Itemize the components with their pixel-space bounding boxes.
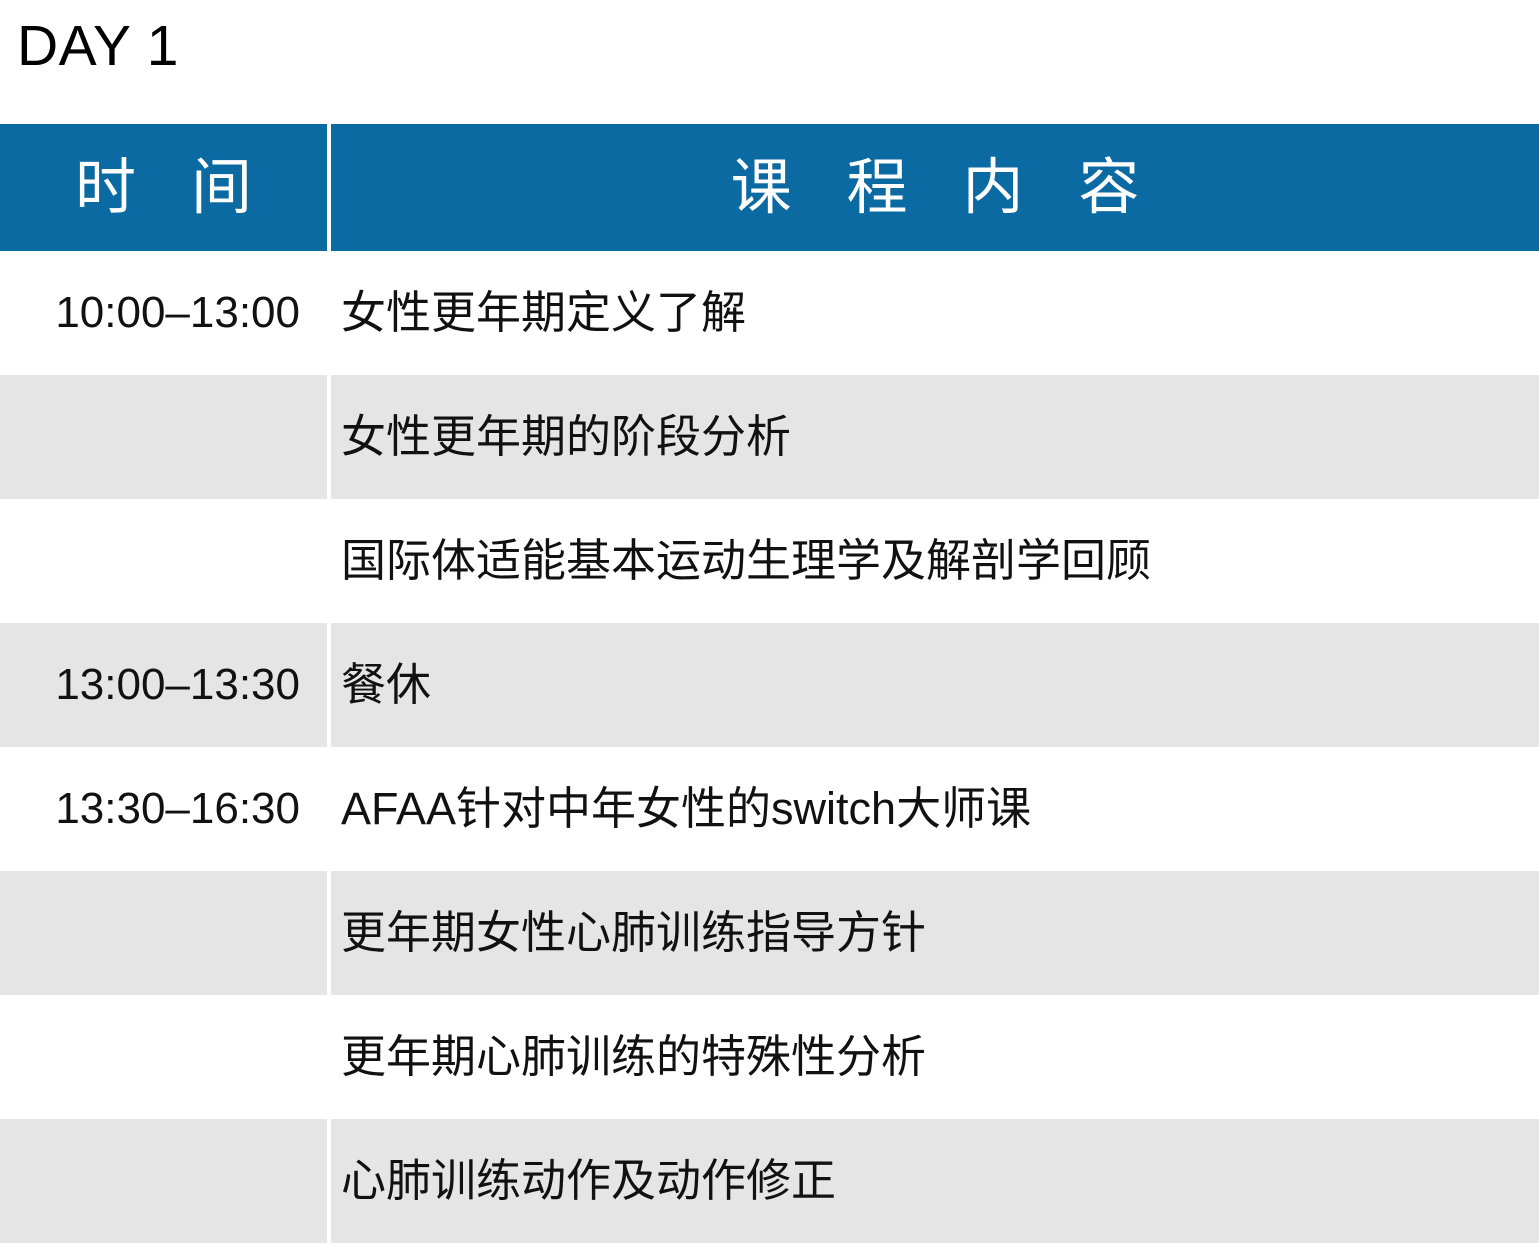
table-row: 13:30–16:30 AFAA针对中年女性的switch大师课 (0, 747, 1539, 871)
cell-time: 13:30–16:30 (0, 747, 327, 871)
cell-topic: 心肺训练动作及动作修正 (331, 1119, 1539, 1243)
table-row: 女性更年期的阶段分析 (0, 375, 1539, 499)
cell-time (0, 995, 327, 1119)
cell-topic: AFAA针对中年女性的switch大师课 (331, 747, 1539, 871)
cell-topic: 国际体适能基本运动生理学及解剖学回顾 (331, 499, 1539, 623)
cell-topic: 更年期心肺训练的特殊性分析 (331, 995, 1539, 1119)
cell-time (0, 871, 327, 995)
cell-time: 13:00–13:30 (0, 623, 327, 747)
table-row: 更年期心肺训练的特殊性分析 (0, 995, 1539, 1119)
table-row: 10:00–13:00 女性更年期定义了解 (0, 251, 1539, 375)
schedule-table: 时 间 课 程 内 容 10:00–13:00 女性更年期定义了解 女性更年期的… (0, 124, 1539, 1243)
table-body: 10:00–13:00 女性更年期定义了解 女性更年期的阶段分析 国际体适能基本… (0, 251, 1539, 1243)
cell-time (0, 1119, 327, 1243)
cell-time (0, 499, 327, 623)
cell-time (0, 375, 327, 499)
table-row: 国际体适能基本运动生理学及解剖学回顾 (0, 499, 1539, 623)
table-row: 心肺训练动作及动作修正 (0, 1119, 1539, 1243)
cell-time: 10:00–13:00 (0, 251, 327, 375)
cell-topic: 餐休 (331, 623, 1539, 747)
column-header-time: 时 间 (0, 124, 327, 251)
table-header: 时 间 课 程 内 容 (0, 124, 1539, 251)
cell-topic: 更年期女性心肺训练指导方针 (331, 871, 1539, 995)
table-header-row: 时 间 课 程 内 容 (0, 124, 1539, 251)
cell-topic: 女性更年期的阶段分析 (331, 375, 1539, 499)
cell-topic: 女性更年期定义了解 (331, 251, 1539, 375)
table-row: 更年期女性心肺训练指导方针 (0, 871, 1539, 995)
table-row: 13:00–13:30 餐休 (0, 623, 1539, 747)
slide-canvas: DAY 1 时 间 课 程 内 容 10:00–13:00 女性更年期定义了解 (0, 0, 1539, 1251)
column-header-topic: 课 程 内 容 (331, 124, 1539, 251)
page-title: DAY 1 (17, 14, 179, 80)
